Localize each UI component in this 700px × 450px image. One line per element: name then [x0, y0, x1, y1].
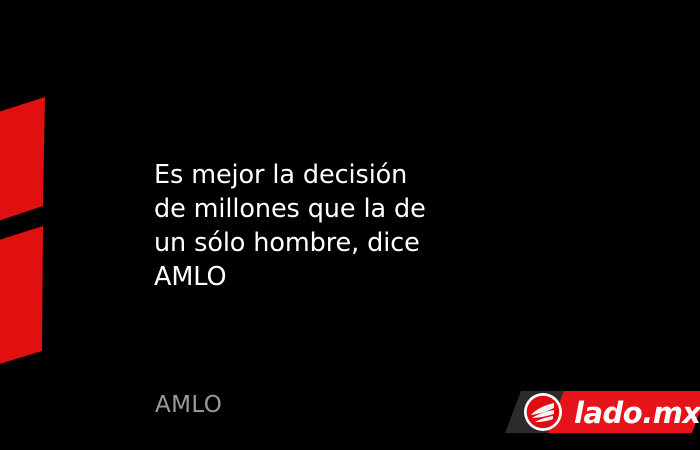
- site-logo-svg: lado.mx: [498, 381, 700, 441]
- emblem-upper-slab: [0, 97, 45, 227]
- logo-wordmark: lado.mx: [574, 396, 700, 430]
- red-slanted-emblem: [0, 88, 62, 370]
- news-card: Es mejor la decisión de millones que la …: [0, 0, 700, 450]
- site-logo[interactable]: lado.mx: [498, 381, 700, 441]
- lado-bird-swoosh-icon: [524, 393, 562, 431]
- emblem-lower-slab: [0, 226, 43, 370]
- headline-text: Es mejor la decisión de millones que la …: [154, 158, 524, 294]
- red-slanted-emblem-svg: [0, 88, 62, 370]
- category-tag[interactable]: AMLO: [155, 391, 222, 419]
